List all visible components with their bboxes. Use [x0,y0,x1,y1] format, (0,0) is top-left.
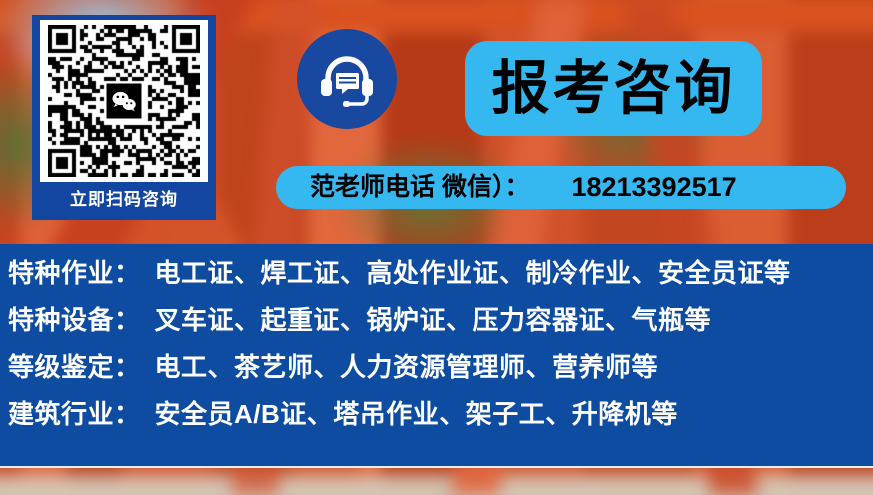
wechat-icon [107,84,142,119]
category-value: 叉车证、起重证、锅炉证、压力容器证、气瓶等 [155,307,712,333]
title-pill: 报考咨询 [465,41,762,136]
headset-support-icon [297,29,397,129]
page-title: 报考咨询 [491,60,735,118]
category-label: 特种作业： [8,260,141,286]
category-list-panel: 特种作业： 电工证、焊工证、高处作业证、制冷作业、安全员证等 特种设备： 叉车证… [0,244,873,468]
contact-number[interactable]: 18213392517 [571,174,736,201]
category-label: 特种设备： [8,307,141,333]
qr-code-image[interactable] [40,20,208,182]
promo-poster: 立即扫码咨询 报考咨询 范老师电话 微信）： 18213392517 [0,0,873,495]
list-item: 特种设备： 叉车证、起重证、锅炉证、压力容器证、气瓶等 [0,307,873,354]
contact-pill[interactable]: 范老师电话 微信）： 18213392517 [276,166,846,209]
list-item: 等级鉴定： 电工、茶艺师、人力资源管理师、营养师等 [0,354,873,401]
category-value: 安全员A/B证、塔吊作业、架子工、升降机等 [155,401,678,427]
qr-caption: 立即扫码咨询 [70,191,178,208]
category-value: 电工证、焊工证、高处作业证、制冷作业、安全员证等 [155,260,791,286]
list-item: 特种作业： 电工证、焊工证、高处作业证、制冷作业、安全员证等 [0,260,873,307]
category-value: 电工、茶艺师、人力资源管理师、营养师等 [155,354,659,380]
qr-card[interactable]: 立即扫码咨询 [32,15,216,220]
list-item: 建筑行业： 安全员A/B证、塔吊作业、架子工、升降机等 [0,401,873,448]
category-label: 等级鉴定： [8,354,141,380]
category-label: 建筑行业： [8,401,141,427]
contact-label: 范老师电话 微信）： [310,175,529,200]
